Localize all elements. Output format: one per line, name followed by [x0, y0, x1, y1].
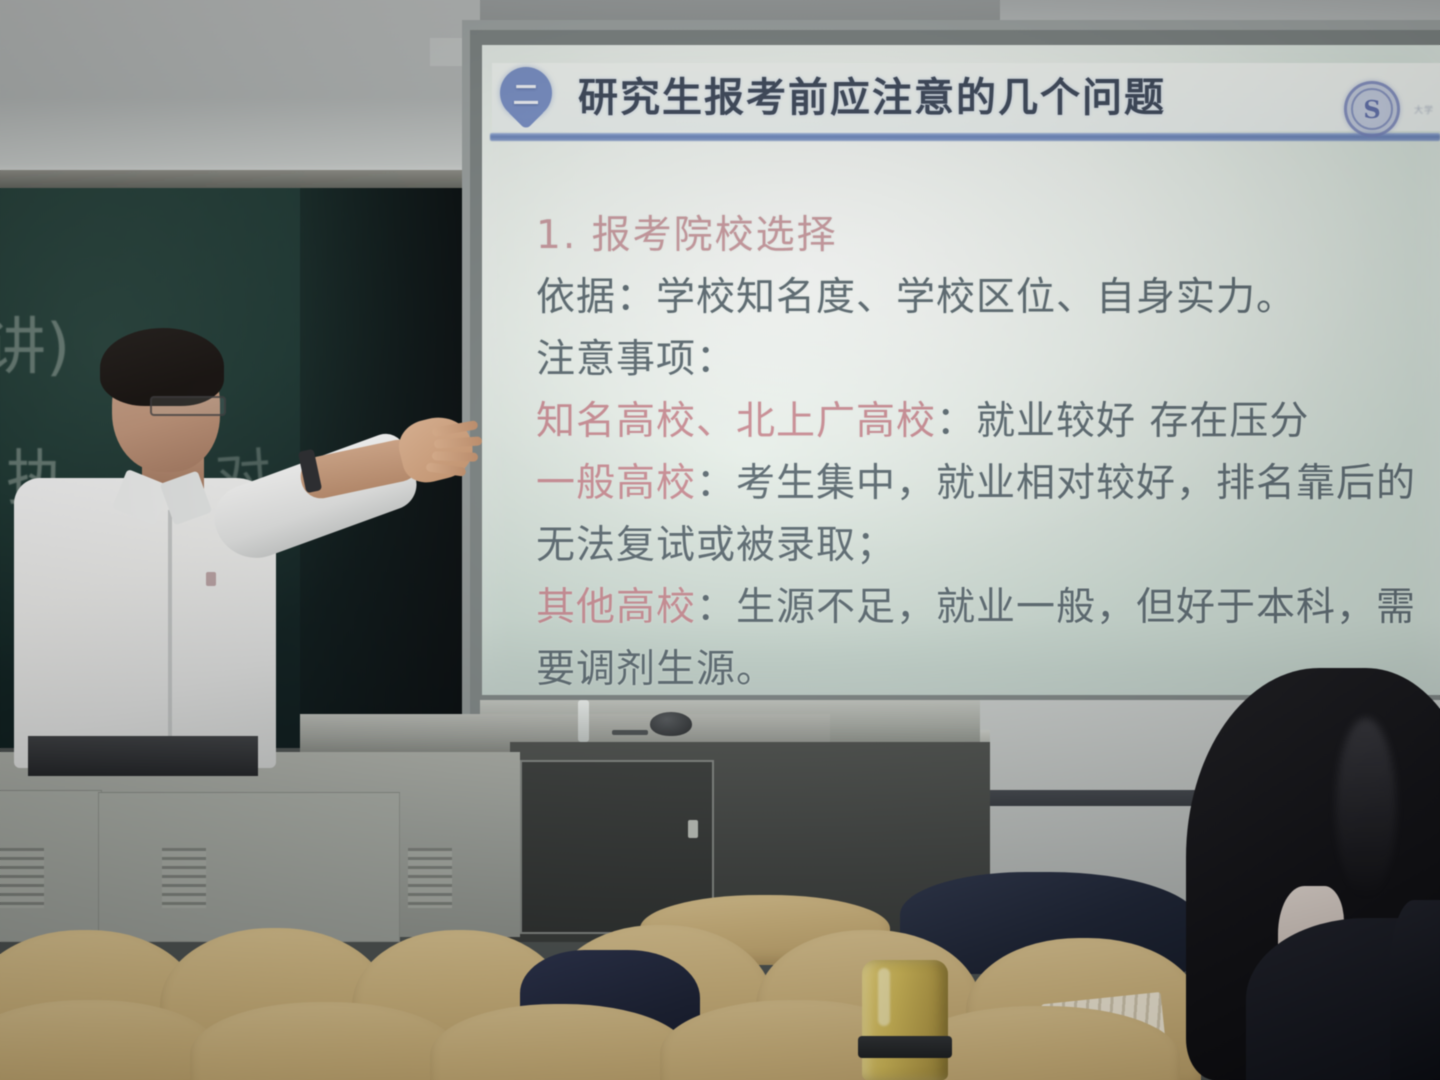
- slide-line-1: 1. 报考院校选择: [536, 205, 1440, 267]
- slide-title: 研究生报考前应注意的几个问题: [578, 65, 1166, 123]
- glasses-icon: [150, 396, 226, 416]
- slide-line-7-rest: ：生源不足，就业一般，但好于本科，需: [696, 585, 1416, 630]
- logo-caption: 大学: [1414, 103, 1434, 116]
- lecturer-trousers: [28, 736, 258, 776]
- back-wall-upper: [0, 0, 480, 178]
- finger-2: [434, 436, 483, 448]
- desk-pen: [612, 730, 648, 735]
- lecture-hall-scene: 讲) 执 对 生 二 研究生报考前应注意的几个问题 S 大学 1. 报考院校选择: [0, 0, 1440, 1080]
- slide-line-8: 要调剂生源。: [536, 639, 1440, 695]
- shirt-pocket-emblem: [206, 572, 216, 586]
- cabinet-door-right: [98, 792, 400, 942]
- slide-line-6: 无法复试或被录取；: [536, 515, 1440, 577]
- slide-body: 1. 报考院校选择 依据：学校知名度、学校区位、自身实力。 注意事项： 知名高校…: [536, 205, 1440, 695]
- cabinet-latch: [688, 820, 698, 838]
- slide-title-divider: [490, 133, 1440, 141]
- slide-line-4-emphasis: 知名高校、北上广高校: [536, 399, 936, 444]
- finger-3: [432, 451, 478, 462]
- slide-line-7-emphasis: 其他高校: [536, 585, 696, 630]
- thermos-highlight: [878, 968, 890, 1026]
- section-pin-icon: 二: [500, 67, 552, 127]
- cabinet-vent-3: [408, 848, 452, 908]
- slide-line-3: 注意事项：: [536, 329, 1440, 391]
- cabinet-vent-2: [162, 848, 206, 908]
- slide-line-4: 知名高校、北上广高校：就业较好 存在压分: [536, 391, 1440, 453]
- student-hair-highlight: [1336, 718, 1396, 898]
- logo-mark: S: [1344, 81, 1400, 137]
- desk-mouse: [650, 712, 692, 736]
- slide-line-5-emphasis: 一般高校: [536, 461, 696, 506]
- thermos-base-band: [858, 1036, 952, 1058]
- slide-line-5-rest: ：考生集中，就业相对较好，排名靠后的: [696, 461, 1416, 506]
- shirt-placket: [168, 510, 172, 760]
- cabinet-vent-1: [0, 848, 44, 908]
- slide-line-7: 其他高校：生源不足，就业一般，但好于本科，需: [536, 577, 1440, 639]
- university-logo-icon: S: [1344, 81, 1400, 137]
- student-foreground-right: [1390, 900, 1440, 1080]
- section-number: 二: [500, 67, 552, 119]
- projection-screen: 二 研究生报考前应注意的几个问题 S 大学 1. 报考院校选择 依据：学校知名度…: [482, 45, 1440, 695]
- amber-thermos: [862, 960, 948, 1080]
- desk-bottle: [578, 700, 589, 742]
- slide-line-5: 一般高校：考生集中，就业相对较好，排名靠后的: [536, 453, 1440, 515]
- slide-line-4-rest: ：就业较好 存在压分: [936, 399, 1309, 444]
- lecturer: [0, 300, 480, 760]
- lecturer-hair: [100, 328, 224, 406]
- slide-line-2: 依据：学校知名度、学校区位、自身实力。: [536, 267, 1440, 329]
